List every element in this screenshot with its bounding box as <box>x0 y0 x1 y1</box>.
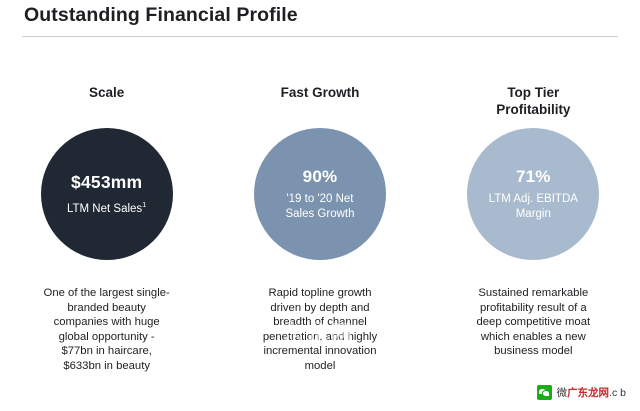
metric-value: 71% <box>516 167 551 187</box>
watermark-badge: 微广东龙网.c b <box>533 382 632 403</box>
watermark-badge-text: 微广东龙网.c b <box>557 385 626 400</box>
page-title: Outstanding Financial Profile <box>24 4 298 27</box>
column-caption: Sustained remarkable profitability resul… <box>458 286 608 359</box>
metric-value: $453mm <box>71 172 142 193</box>
metric-footnote-marker: 1 <box>142 200 146 209</box>
watermark-suffix: .c b <box>609 387 626 399</box>
metric-label: LTM Adj. EBITDA Margin <box>489 192 578 221</box>
metric-column-profitability: Top Tier Profitability 71% LTM Adj. EBIT… <box>427 84 640 359</box>
column-caption: One of the largest single- branded beaut… <box>32 286 182 373</box>
title-divider <box>22 36 618 37</box>
metric-label: '19 to '20 Net Sales Growth <box>285 192 354 221</box>
column-heading: Scale <box>89 84 124 122</box>
metric-circle-scale: $453mm LTM Net Sales1 <box>41 128 173 260</box>
metric-circle-fast-growth: 90% '19 to '20 Net Sales Growth <box>254 128 386 260</box>
watermark-prefix: 微 <box>557 387 568 399</box>
column-heading: Top Tier Profitability <box>496 84 570 122</box>
slide-canvas: Outstanding Financial Profile Scale $453… <box>0 0 640 411</box>
column-caption: Rapid topline growth driven by depth and… <box>245 286 395 373</box>
metric-column-scale: Scale $453mm LTM Net Sales1 One of the l… <box>0 84 213 373</box>
wechat-icon <box>537 385 552 400</box>
metric-circle-profitability: 71% LTM Adj. EBITDA Margin <box>467 128 599 260</box>
metric-label: LTM Net Sales1 <box>67 198 146 216</box>
metric-column-fast-growth: Fast Growth 90% '19 to '20 Net Sales Gro… <box>213 84 426 373</box>
metrics-columns: Scale $453mm LTM Net Sales1 One of the l… <box>0 84 640 373</box>
metric-value: 90% <box>303 167 338 187</box>
watermark-brand: 广东龙网 <box>567 387 609 399</box>
column-heading: Fast Growth <box>281 84 360 122</box>
metric-label-text: LTM Net Sales <box>67 203 142 215</box>
